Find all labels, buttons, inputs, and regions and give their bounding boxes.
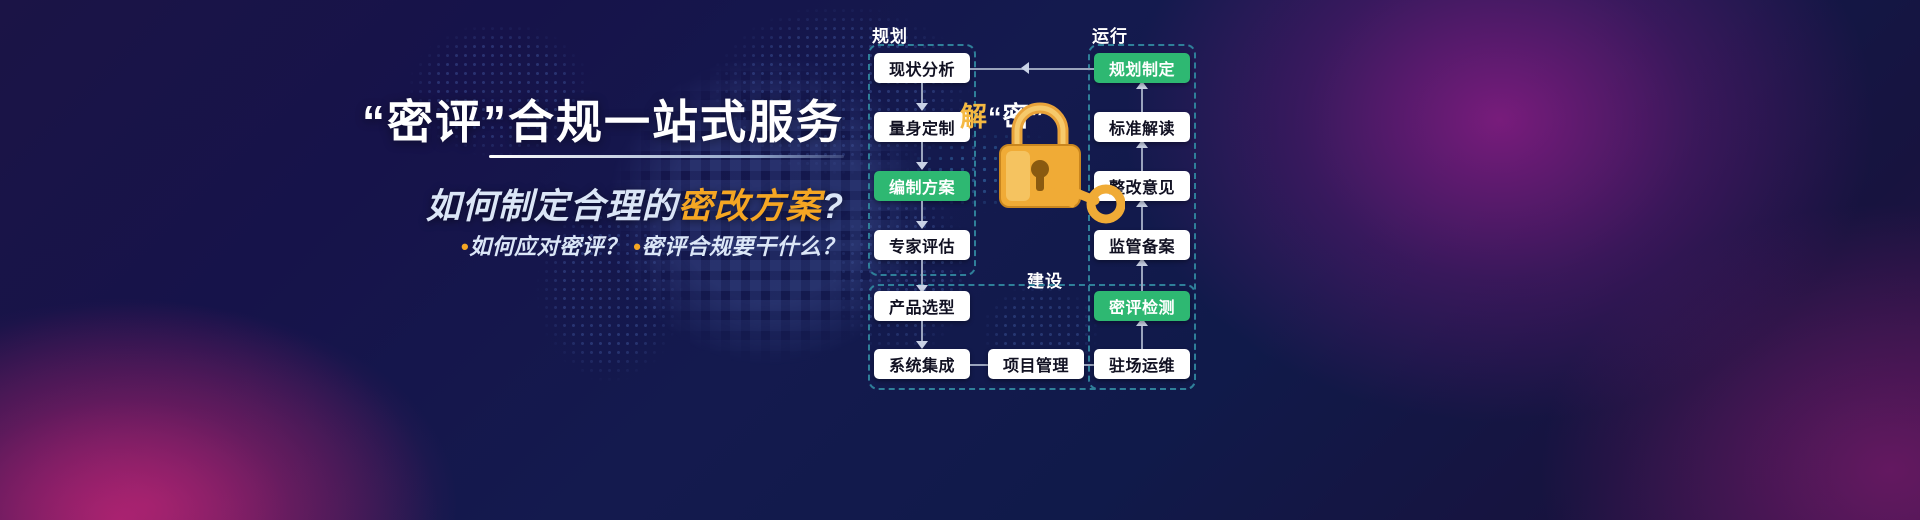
node-product-selection[interactable]: 产品选型	[874, 291, 970, 321]
bullet-marker-1: •	[461, 234, 469, 259]
title-divider	[489, 155, 844, 158]
node-expert-review[interactable]: 专家评估	[874, 230, 970, 260]
node-crypto-assessment[interactable]: 密评检测	[1094, 291, 1190, 321]
node-project-management[interactable]: 项目管理	[988, 349, 1084, 379]
subtitle-highlight: 密改方案	[678, 187, 822, 226]
process-flow-diagram: 规划 运行 建设 现状分析 量身定制 编制方案 专家评估 产品选型 系统集成 项…	[860, 0, 1920, 520]
bullet-list: •如何应对密评？ •密评合规要干什么？	[461, 229, 844, 261]
lock-and-key-svg	[975, 85, 1125, 235]
arrow-left-top-cross	[1021, 62, 1029, 74]
arrow-down-n5-n6	[916, 341, 928, 349]
headline-block: “密评”合规一站式服务 如何制定合理的密改方案? •如何应对密评？ •密评合规要…	[0, 0, 880, 520]
node-scheme-drafting[interactable]: 编制方案	[874, 171, 970, 201]
subtitle-suffix: ?	[822, 187, 844, 226]
node-current-state-analysis[interactable]: 现状分析	[874, 53, 970, 83]
bullet-item-1: 如何应对密评？	[469, 234, 627, 259]
subtitle-prefix: 如何制定合理的	[426, 187, 678, 226]
arrow-down-n1-n2	[916, 103, 928, 111]
subtitle: 如何制定合理的密改方案?	[426, 178, 844, 229]
bullet-item-2: 密评合规要干什么？	[641, 234, 844, 259]
node-system-integration[interactable]: 系统集成	[874, 349, 970, 379]
lock-and-key-icon	[975, 85, 1125, 235]
connector-top-cross	[970, 68, 1094, 70]
node-on-site-operation[interactable]: 驻场运维	[1094, 349, 1190, 379]
connector-n8-n9	[1141, 323, 1143, 349]
arrow-down-n2-n3	[916, 162, 928, 170]
arrow-down-n3-n4	[916, 221, 928, 229]
page-title: “密评”合规一站式服务	[362, 86, 844, 152]
node-tailored-design[interactable]: 量身定制	[874, 112, 970, 142]
node-plan-formulation[interactable]: 规划制定	[1094, 53, 1190, 83]
promo-banner: “密评”合规一站式服务 如何制定合理的密改方案? •如何应对密评？ •密评合规要…	[0, 0, 1920, 520]
